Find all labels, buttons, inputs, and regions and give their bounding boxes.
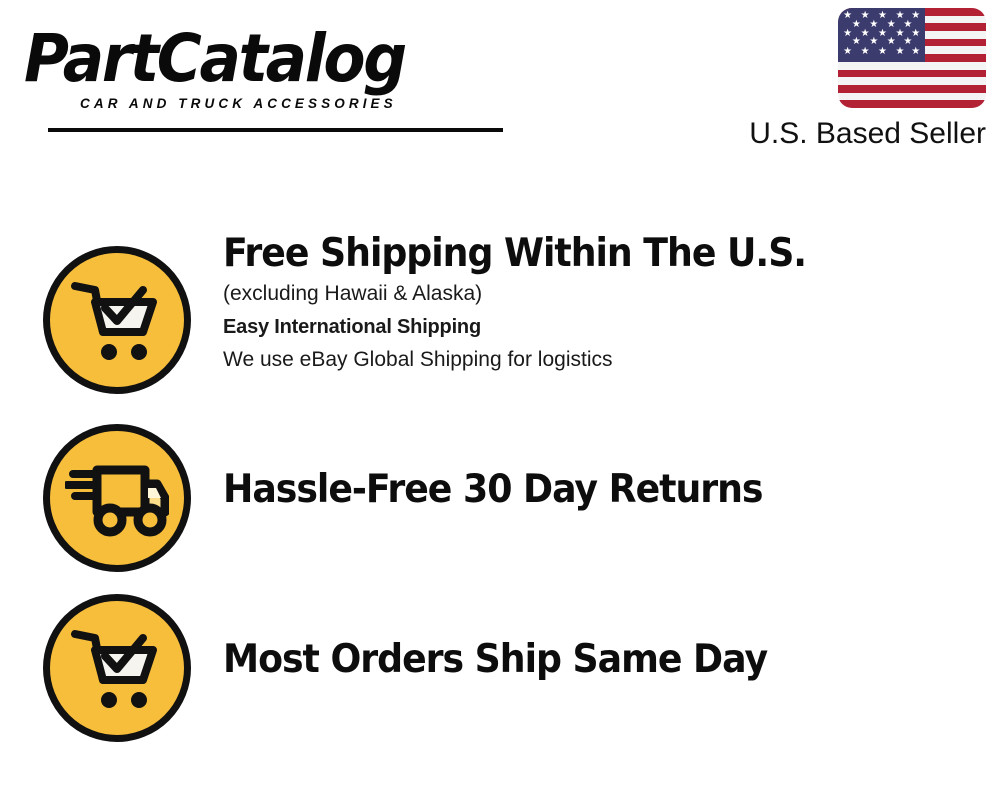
shopping-cart-check-icon (43, 594, 191, 742)
flag-canton: ★ ★ ★ ★ ★ ★ ★ ★ ★ ★ ★ ★ ★ ★ ★ ★ ★ (838, 8, 925, 62)
feature-headline: Hassle-Free 30 Day Returns (223, 466, 936, 514)
brand-tagline: CAR AND TRUCK ACCESSORIES (80, 96, 397, 111)
feature-text-block: Hassle-Free 30 Day Returns (223, 466, 990, 514)
us-based-seller-label: U.S. Based Seller (726, 117, 986, 151)
delivery-truck-icon (43, 424, 191, 572)
feature-subline: (excluding Hawaii & Alaska) (223, 278, 990, 310)
feature-headline: Free Shipping Within The U.S. (223, 230, 936, 278)
feature-row: Free Shipping Within The U.S. (excluding… (0, 230, 1000, 410)
brand-wordmark: PartCatalog (24, 24, 405, 94)
feature-text-block: Most Orders Ship Same Day (223, 636, 990, 684)
us-based-seller-badge: ★ ★ ★ ★ ★ ★ ★ ★ ★ ★ ★ ★ ★ ★ ★ ★ ★ (726, 8, 986, 151)
us-flag-icon: ★ ★ ★ ★ ★ ★ ★ ★ ★ ★ ★ ★ ★ ★ ★ ★ ★ (838, 8, 986, 108)
banner-header: PartCatalog CAR AND TRUCK ACCESSORIES (0, 0, 1000, 170)
feature-row: Hassle-Free 30 Day Returns (0, 418, 1000, 576)
feature-subline: Easy International Shipping (223, 310, 990, 344)
feature-subline: We use eBay Global Shipping for logistic… (223, 344, 990, 376)
feature-text-block: Free Shipping Within The U.S. (excluding… (223, 230, 990, 376)
shopping-cart-check-icon (43, 246, 191, 394)
seller-info-banner: PartCatalog CAR AND TRUCK ACCESSORIES (0, 0, 1000, 800)
feature-headline: Most Orders Ship Same Day (223, 636, 936, 684)
brand-underline (48, 128, 503, 132)
feature-row: Most Orders Ship Same Day (0, 588, 1000, 746)
partcatalog-logo: PartCatalog CAR AND TRUCK ACCESSORIES (24, 24, 494, 114)
